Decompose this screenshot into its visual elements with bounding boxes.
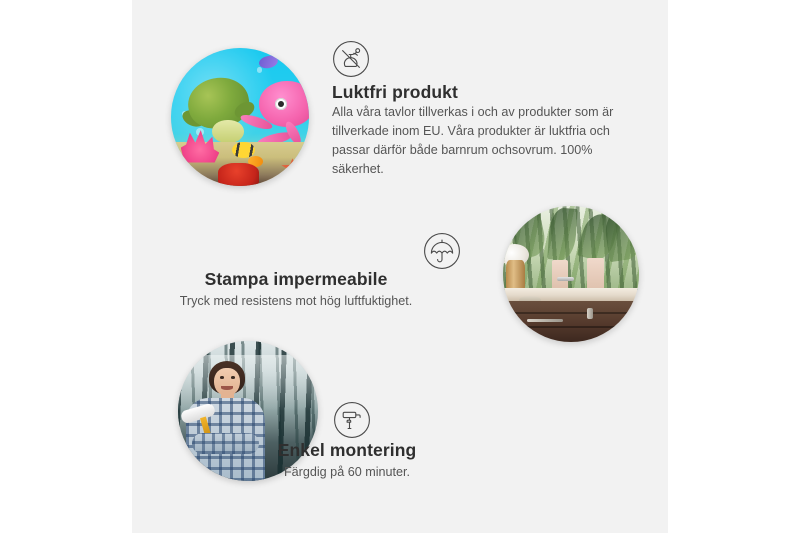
feature-image-waterproof [503,206,639,342]
content-panel: Luktfri produkt Alla våra tavlor tillver… [132,0,668,533]
feature-title-odourless: Luktfri produkt [332,82,458,103]
feature-title-easy-assembly: Enkel montering [194,440,500,461]
underwater-cartoon-illustration [171,48,309,186]
paint-roller-icon [333,401,371,439]
feature-body-odourless: Alla våra tavlor tillverkas i och av pro… [332,103,620,180]
feature-image-odourless [171,48,309,186]
feature-body-waterproof: Tryck med resistens mot hög luftfuktighe… [132,292,460,311]
umbrella-icon [423,232,461,270]
no-smell-icon [332,40,370,78]
promo-infographic-page: Luktfri produkt Alla våra tavlor tillver… [0,0,800,533]
bathroom-photo [503,206,639,342]
feature-body-easy-assembly: Färgdig på 60 minuter. [194,463,500,482]
feature-title-waterproof: Stampa impermeabile [132,269,460,290]
